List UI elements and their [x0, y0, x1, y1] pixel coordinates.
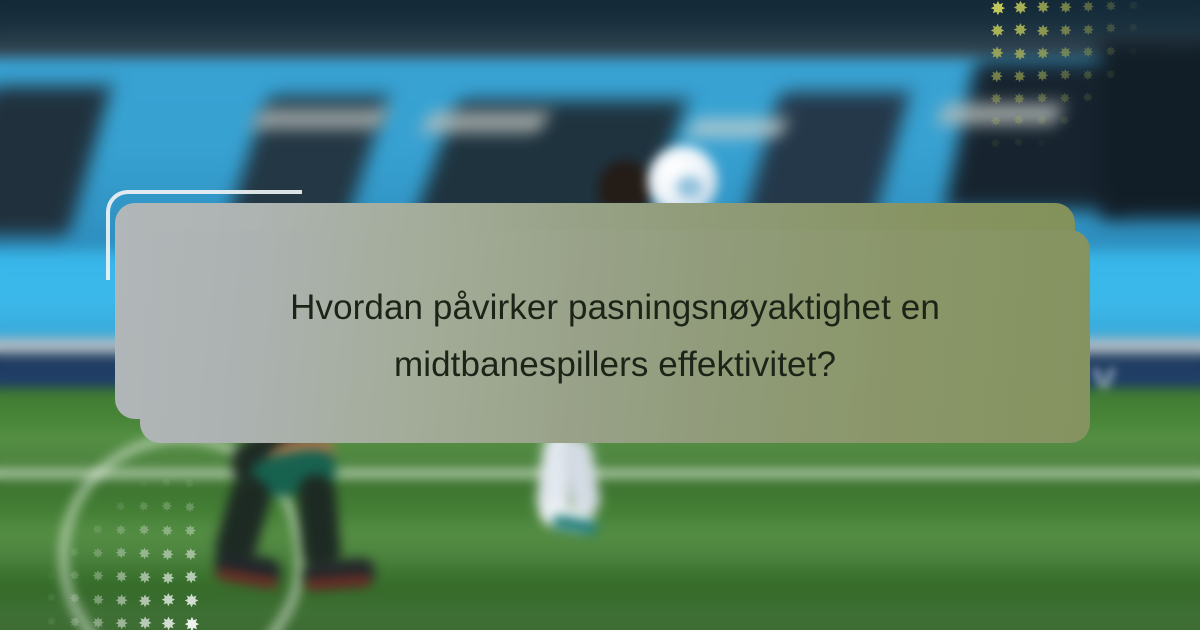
question-card: Hvordan påvirker pasningsnøyaktighet en … [140, 230, 1090, 443]
question-headline: Hvordan påvirker pasningsnøyaktighet en … [179, 280, 1051, 393]
page-root: VV ✸✸✸✸✸✸✸✸✸✸✸✸✸✸✸✸✸✸✸✸✸✸✸✸✸✸✸✸✸✸✸✸✸✸✸✸✸… [0, 0, 1200, 630]
